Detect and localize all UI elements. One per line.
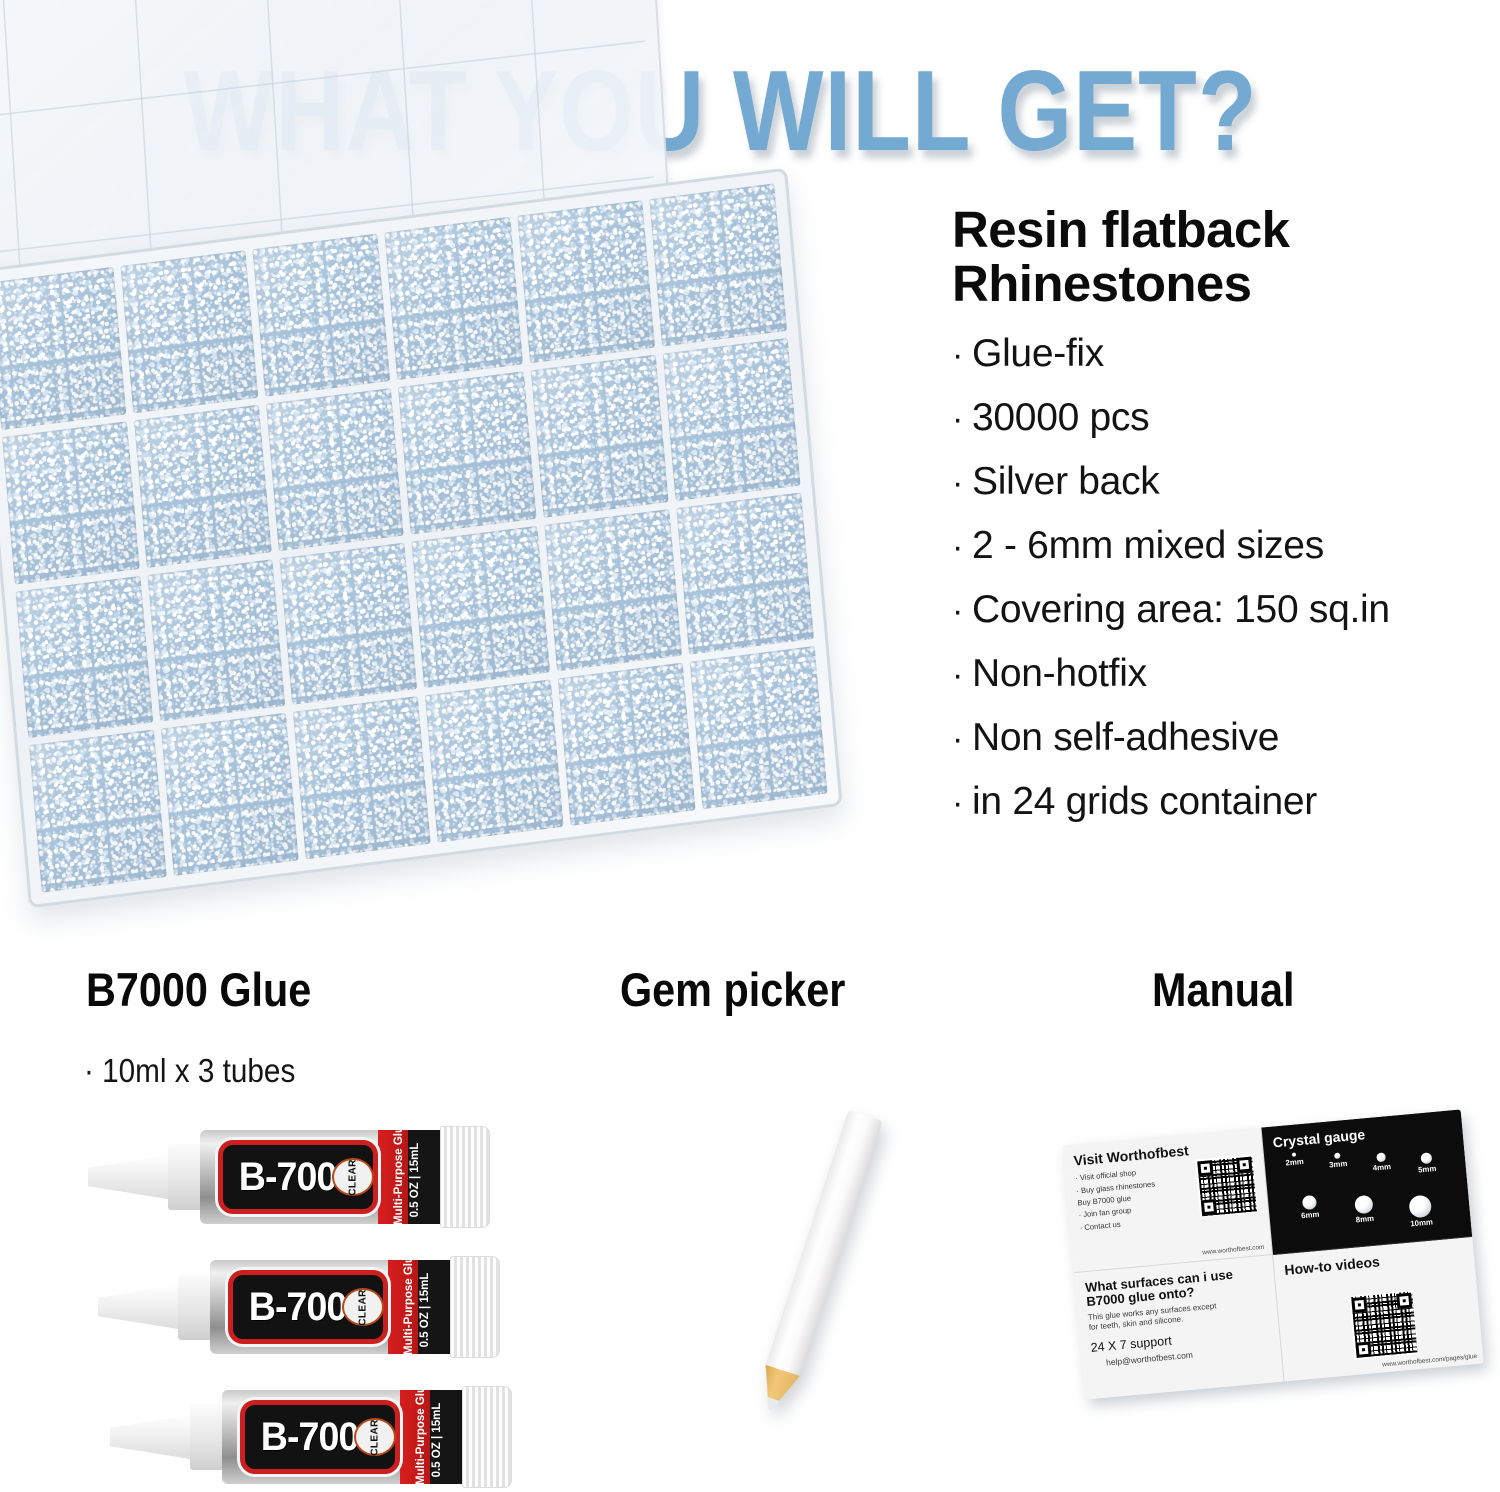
grid-cell (398, 371, 536, 534)
spec-heading-line2: Rhinestones (952, 257, 1482, 311)
gauge-item: 6mm (1299, 1195, 1319, 1221)
bullet-icon: · (952, 592, 963, 630)
crystal-gauge-row-2: 6mm 8mm 10mm (1278, 1182, 1461, 1234)
gauge-item: 10mm (1408, 1195, 1433, 1229)
grid-cell (676, 492, 814, 655)
bullet-icon: · (952, 720, 963, 758)
spec-item-label: in 24 grids container (972, 780, 1317, 823)
spec-heading-line1: Resin flatback (952, 203, 1482, 257)
spec-item: ·30000 pcs (952, 398, 1482, 437)
tube-body: B-7000 CLEAR Multi-Purpose Glue 0.5 OZ |… (200, 1130, 444, 1224)
gauge-stone-icon (1354, 1195, 1374, 1215)
spec-item: ·Non self-adhesive (952, 718, 1482, 757)
gauge-stone-icon (1302, 1195, 1317, 1210)
tube-volume-label: 0.5 OZ | 15mL (431, 1395, 443, 1484)
grid-cell (649, 183, 787, 346)
section-heading-manual: Manual (1152, 962, 1294, 1017)
gauge-stone-icon (1376, 1153, 1385, 1162)
gauge-item: 2mm (1285, 1152, 1304, 1168)
gauge-size-label: 6mm (1301, 1210, 1320, 1221)
gauge-size-label: 8mm (1355, 1214, 1374, 1225)
tube-purpose-label: Multi-Purpose Glue (393, 1135, 405, 1224)
tube-volume-label: 0.5 OZ | 15mL (409, 1135, 421, 1224)
section-heading-glue: B7000 Glue (86, 962, 311, 1017)
glue-tube: B-7000 CLEAR Multi-Purpose Glue 0.5 OZ |… (88, 1128, 488, 1226)
grid-cell (0, 267, 126, 430)
gauge-stone-icon (1408, 1195, 1432, 1219)
rhinestone-grid (0, 183, 828, 892)
grid-cell (15, 575, 153, 738)
spec-bullet-list: ·Glue-fix ·30000 pcs ·Silver back ·2 - 6… (952, 334, 1482, 821)
grid-cell (690, 646, 828, 809)
tube-neck (190, 1404, 226, 1470)
spec-item: ·Glue-fix (952, 334, 1482, 373)
grid-cell (517, 200, 655, 363)
bullet-icon: · (952, 336, 963, 374)
gauge-size-label: 10mm (1410, 1218, 1433, 1229)
qr-finder-icon (1197, 1160, 1213, 1176)
bullet-icon: · (952, 784, 963, 822)
tube-clear-label: CLEAR (357, 1289, 368, 1325)
tube-clear-label: CLEAR (347, 1159, 358, 1195)
gauge-item: 3mm (1328, 1152, 1348, 1170)
gem-picker-photo (688, 1100, 968, 1440)
grid-cell (266, 388, 404, 551)
gauge-size-label: 5mm (1418, 1164, 1437, 1175)
glue-quantity-label: · 10ml x 3 tubes (84, 1052, 295, 1090)
spec-item-label: Non-hotfix (972, 652, 1147, 695)
tube-crimp-cap (440, 1126, 490, 1228)
gauge-size-label: 2mm (1285, 1157, 1304, 1168)
glue-tube: B-7000 CLEAR Multi-Purpose Glue 0.5 OZ |… (110, 1388, 510, 1486)
tube-volume-label: 0.5 OZ | 15mL (419, 1265, 431, 1354)
tube-purpose-label: Multi-Purpose Glue (403, 1265, 415, 1354)
section-heading-gem-picker: Gem picker (620, 962, 845, 1017)
grid-cell (385, 217, 523, 380)
grid-cell (530, 354, 668, 517)
qr-code-videos (1349, 1290, 1419, 1360)
gauge-item: 8mm (1354, 1195, 1375, 1225)
spec-item-label: Non self-adhesive (972, 716, 1279, 759)
rhinestone-container-photo (0, 0, 890, 950)
manual-quadrant-visit: Visit Worthofbest · Visit official shop … (1062, 1128, 1273, 1273)
manual-quadrant-videos: How-to videos www.worthofbest.com/pages/… (1273, 1236, 1484, 1381)
gauge-stone-icon (1420, 1153, 1432, 1165)
spec-item: ·Non-hotfix (952, 654, 1482, 693)
manual-quadrant-crystal-gauge: Crystal gauge 2mm 3mm 4mm 5mm 6mm (1261, 1109, 1472, 1254)
grid-cell (253, 233, 391, 396)
tube-neck (178, 1274, 214, 1340)
grid-cell (148, 559, 286, 722)
grid-cell (425, 680, 563, 843)
grid-cell (2, 421, 140, 584)
qr-finder-icon (1355, 1341, 1371, 1357)
spec-item: ·2 - 6mm mixed sizes (952, 526, 1482, 565)
qr-finder-icon (1236, 1157, 1252, 1173)
gauge-stone-icon (1292, 1153, 1296, 1157)
tube-body: B-7000 CLEAR Multi-Purpose Glue 0.5 OZ |… (222, 1390, 466, 1484)
spec-heading: Resin flatback Rhinestones (952, 203, 1482, 311)
tube-nozzle (110, 1414, 196, 1460)
spec-item-label: Silver back (972, 460, 1159, 503)
tube-clear-badge: CLEAR (354, 1418, 396, 1456)
spec-item-label: 2 - 6mm mixed sizes (972, 524, 1324, 567)
spec-item: ·Covering area: 150 sq.in (952, 590, 1482, 629)
qr-finder-icon (1396, 1293, 1412, 1309)
tube-nozzle (98, 1284, 184, 1330)
tube-body: B-7000 CLEAR Multi-Purpose Glue 0.5 OZ |… (210, 1260, 454, 1354)
grid-cell (412, 525, 550, 688)
spec-item-label: Glue-fix (972, 332, 1104, 375)
glue-tube: B-7000 CLEAR Multi-Purpose Glue 0.5 OZ |… (98, 1258, 498, 1356)
gauge-size-label: 3mm (1329, 1159, 1348, 1170)
manual-quadrant-surfaces: What surfaces can i use B7000 glue onto?… (1074, 1255, 1285, 1400)
bullet-icon: · (952, 656, 963, 694)
spec-item: ·in 24 grids container (952, 782, 1482, 821)
tube-clear-badge: CLEAR (332, 1158, 374, 1196)
grid-cell (161, 713, 299, 876)
grid-cell (121, 250, 259, 413)
tube-crimp-cap (462, 1386, 512, 1488)
bullet-icon: · (952, 400, 963, 438)
qr-code-shop (1195, 1154, 1258, 1217)
gauge-stone-icon (1334, 1153, 1341, 1160)
tube-neck (168, 1144, 204, 1210)
tube-nozzle (88, 1154, 174, 1200)
container-tray (0, 168, 843, 909)
gauge-item: 4mm (1371, 1152, 1391, 1172)
qr-finder-icon (1351, 1297, 1367, 1313)
pencil-shaft (764, 1110, 882, 1380)
manual-card: Visit Worthofbest · Visit official shop … (1062, 1109, 1483, 1399)
tube-clear-badge: CLEAR (342, 1288, 384, 1326)
grid-cell (557, 663, 695, 826)
grid-cell (663, 338, 801, 501)
grid-cell (544, 509, 682, 672)
grid-cell (29, 730, 167, 893)
manual-videos-heading: How-to videos (1284, 1246, 1465, 1278)
spec-item-label: Covering area: 150 sq.in (972, 588, 1390, 631)
grid-cell (280, 542, 418, 705)
manual-visit-url: www.worthofbest.com (1202, 1243, 1265, 1256)
grid-cell (134, 404, 272, 567)
tube-crimp-cap (450, 1256, 500, 1358)
spec-item: ·Silver back (952, 462, 1482, 501)
gem-picker-pencil (753, 1110, 882, 1414)
qr-finder-icon (1201, 1199, 1217, 1215)
bullet-icon: · (952, 528, 963, 566)
tube-purpose-label: Multi-Purpose Glue (415, 1395, 427, 1484)
bullet-icon: · (952, 464, 963, 502)
gauge-item: 5mm (1417, 1152, 1437, 1175)
gauge-size-label: 4mm (1372, 1162, 1391, 1173)
spec-item-label: 30000 pcs (972, 396, 1149, 439)
tube-clear-label: CLEAR (369, 1419, 380, 1455)
rhinestone-spec-block: Resin flatback Rhinestones ·Glue-fix ·30… (952, 203, 1482, 846)
grid-cell (293, 696, 431, 859)
